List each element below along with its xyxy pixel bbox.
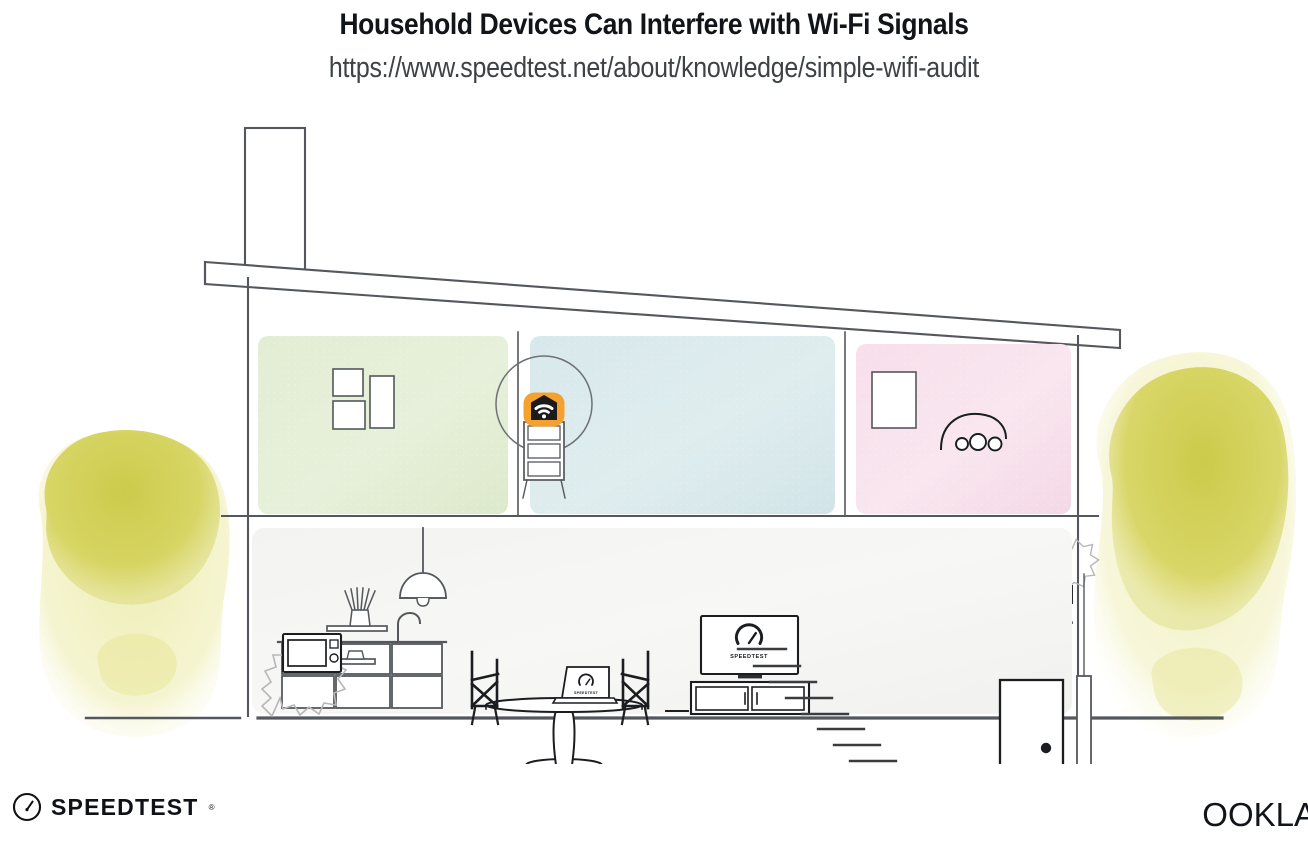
page-title: Household Devices Can Interfere with Wi-… (78, 8, 1229, 42)
side-window-panel (1077, 574, 1091, 764)
source-url: https://www.speedtest.net/about/knowledg… (92, 52, 1217, 85)
infographic-page: Household Devices Can Interfere with Wi-… (0, 0, 1308, 861)
speedtest-trademark: ® (209, 803, 215, 812)
house-drawing: SPEEDTEST (0, 104, 1308, 764)
wall-art-frames (872, 372, 916, 428)
chimney (245, 128, 305, 278)
front-door (1000, 680, 1063, 764)
speedtest-logo: SPEEDTEST ® (12, 792, 214, 822)
dining-table (486, 698, 642, 764)
roof (205, 262, 1120, 348)
room-lower-floor: SPEEDTEST (252, 528, 1072, 764)
ookla-logo: OOKLA (1202, 796, 1308, 834)
laptop-screen-label: SPEEDTEST (574, 691, 599, 695)
door-handle (1041, 743, 1051, 753)
living-room-tv-screen-label: SPEEDTEST (730, 654, 768, 660)
speedtest-wordmark: SPEEDTEST (51, 794, 199, 821)
ookla-wordmark: OOKLA (1202, 796, 1308, 834)
house-illustration: SPEEDTEST (0, 104, 1308, 764)
living-room-tv: SPEEDTEST (701, 616, 798, 678)
header: Household Devices Can Interfere with Wi-… (0, 0, 1308, 85)
wifi-router (524, 393, 565, 427)
footer: SPEEDTEST ® OOKLA (0, 770, 1308, 861)
speedtest-gauge-icon (12, 792, 42, 822)
